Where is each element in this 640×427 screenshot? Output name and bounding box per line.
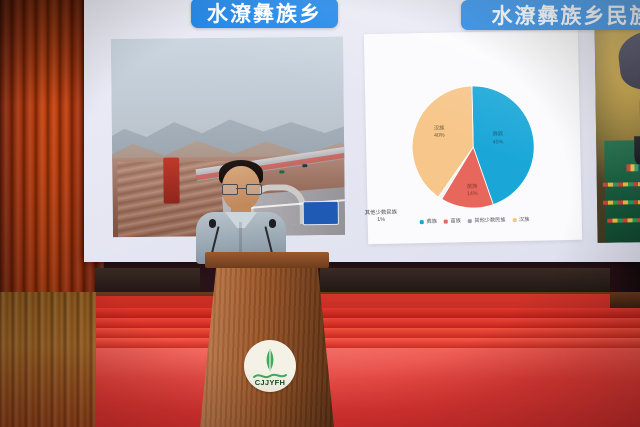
pie-slice-label-han: 汉族40% (434, 126, 445, 141)
green-leaf-icon (260, 348, 280, 372)
legend-swatch (444, 219, 448, 223)
legend-item-yi: 彝族 (420, 218, 437, 225)
legend-item-miao: 苗族 (444, 217, 461, 224)
pie-chart: 彝族45% 汉族40% 苗族14% 其他少数民族1% (411, 85, 536, 210)
portrait-embroidery-stripe (603, 181, 640, 186)
photo-vehicle (279, 170, 284, 173)
yi-elder-portrait-photo (594, 13, 640, 243)
slide-title-badge-right: 水潦彝族乡民族分布 (461, 0, 640, 30)
pie-slice-label-yi: 彝族45% (492, 132, 503, 147)
microphone-head (209, 219, 216, 228)
legend-label: 汉族 (519, 216, 530, 223)
bridge-highway-photo (111, 37, 345, 237)
legend-swatch (420, 220, 424, 224)
podium-emblem: CJJYFH (244, 340, 296, 392)
curtain-lower-left (0, 292, 96, 427)
slide-title-badge-left: 水潦彝族乡 (191, 0, 338, 28)
legend-item-other: 其他少数民族 (468, 216, 506, 224)
legend-label: 其他少数民族 (474, 216, 505, 224)
head-table-right (320, 268, 610, 294)
legend-label: 苗族 (450, 217, 461, 224)
photo-sky (111, 37, 344, 134)
microphone-head (269, 219, 276, 228)
speaker-glasses-icon (222, 184, 260, 193)
podium-desktop (205, 252, 329, 268)
portrait-embroidered-band (627, 163, 640, 171)
photo-road-sign (303, 201, 339, 225)
photo-vehicle (303, 164, 308, 167)
photo-red-monument (163, 157, 179, 203)
pie-chart-slide: 彝族45% 汉族40% 苗族14% 其他少数民族1% 彝族 (364, 30, 582, 244)
pie-slice-label-miao: 苗族14% (467, 184, 478, 199)
legend-item-han: 汉族 (512, 216, 529, 223)
pie-chart-legend: 彝族 苗族 其他少数民族 汉族 (368, 215, 582, 226)
portrait-embroidery-stripe (603, 199, 640, 204)
legend-swatch (512, 218, 516, 222)
projection-screen: 彝族45% 汉族40% 苗族14% 其他少数民族1% 彝族 (84, 0, 640, 262)
screenshot-root: 彝族45% 汉族40% 苗族14% 其他少数民族1% 彝族 (0, 0, 640, 427)
legend-label: 彝族 (427, 218, 438, 225)
portrait-embroidery-stripe (607, 217, 640, 222)
legend-swatch (468, 219, 472, 223)
podium-emblem-text: CJJYFH (244, 378, 296, 387)
